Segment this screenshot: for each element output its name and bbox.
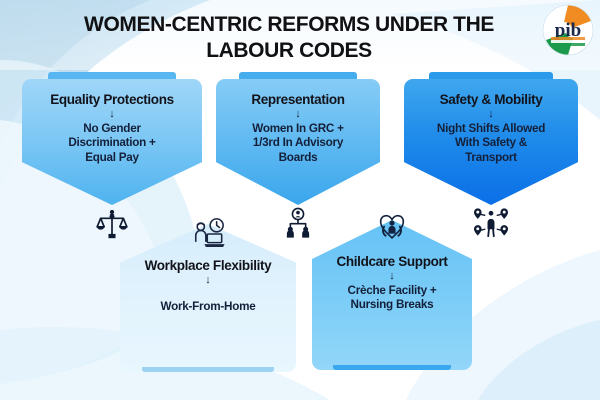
card-title: Workplace Flexibility: [129, 258, 287, 274]
laptop-clock-icon: [190, 218, 226, 250]
card-body: Representation ↓ Women In GRC +1/3rd In …: [216, 79, 380, 205]
card-title: Childcare Support: [321, 254, 463, 270]
pib-logo-icon: pib: [542, 4, 594, 56]
card-workplace-flexibility[interactable]: Workplace Flexibility ↓ Work-From-Home: [120, 218, 296, 372]
down-arrow-icon: ↓: [413, 109, 569, 120]
page-title-line-2: LABOUR CODES: [44, 38, 534, 64]
page-title: WOMEN-CENTRIC REFORMS UNDER THE LABOUR C…: [44, 12, 534, 63]
down-arrow-icon: ↓: [225, 109, 371, 120]
down-arrow-icon: ↓: [321, 271, 463, 282]
down-arrow-icon: ↓: [31, 109, 193, 120]
pib-logo: pib: [542, 4, 594, 56]
card-body: Safety & Mobility ↓ Night Shifts Allowed…: [404, 79, 578, 205]
card-description: No GenderDiscrimination +Equal Pay: [31, 122, 193, 167]
card-tab: [48, 72, 176, 79]
card-tab: [429, 72, 553, 79]
hands-heart-baby-icon: [375, 212, 409, 244]
down-arrow-icon: ↓: [129, 275, 287, 286]
location-pins-person-icon: [472, 207, 510, 239]
card-description: Work-From-Home: [129, 300, 287, 315]
card-title: Representation: [225, 92, 371, 108]
card-base-bar: [333, 365, 451, 370]
card-tab: [239, 72, 357, 79]
page-title-line-1: WOMEN-CENTRIC REFORMS UNDER THE: [44, 12, 534, 38]
card-description: Crèche Facility +Nursing Breaks: [321, 284, 463, 314]
card-description: Women In GRC +1/3rd In AdvisoryBoards: [225, 122, 371, 167]
card-body: Equality Protections ↓ No GenderDiscrimi…: [22, 79, 202, 205]
card-title: Safety & Mobility: [413, 92, 569, 108]
card-title: Equality Protections: [31, 92, 193, 108]
infographic-canvas: pib WOMEN-CENTRIC REFORMS UNDER THE LABO…: [0, 0, 600, 400]
card-childcare-support[interactable]: Childcare Support ↓ Crèche Facility +Nur…: [312, 212, 472, 370]
card-description: Night Shifts AllowedWith Safety &Transpo…: [413, 122, 569, 167]
card-equality-protections[interactable]: Equality Protections ↓ No GenderDiscrimi…: [22, 72, 202, 241]
card-base-bar: [142, 367, 274, 372]
